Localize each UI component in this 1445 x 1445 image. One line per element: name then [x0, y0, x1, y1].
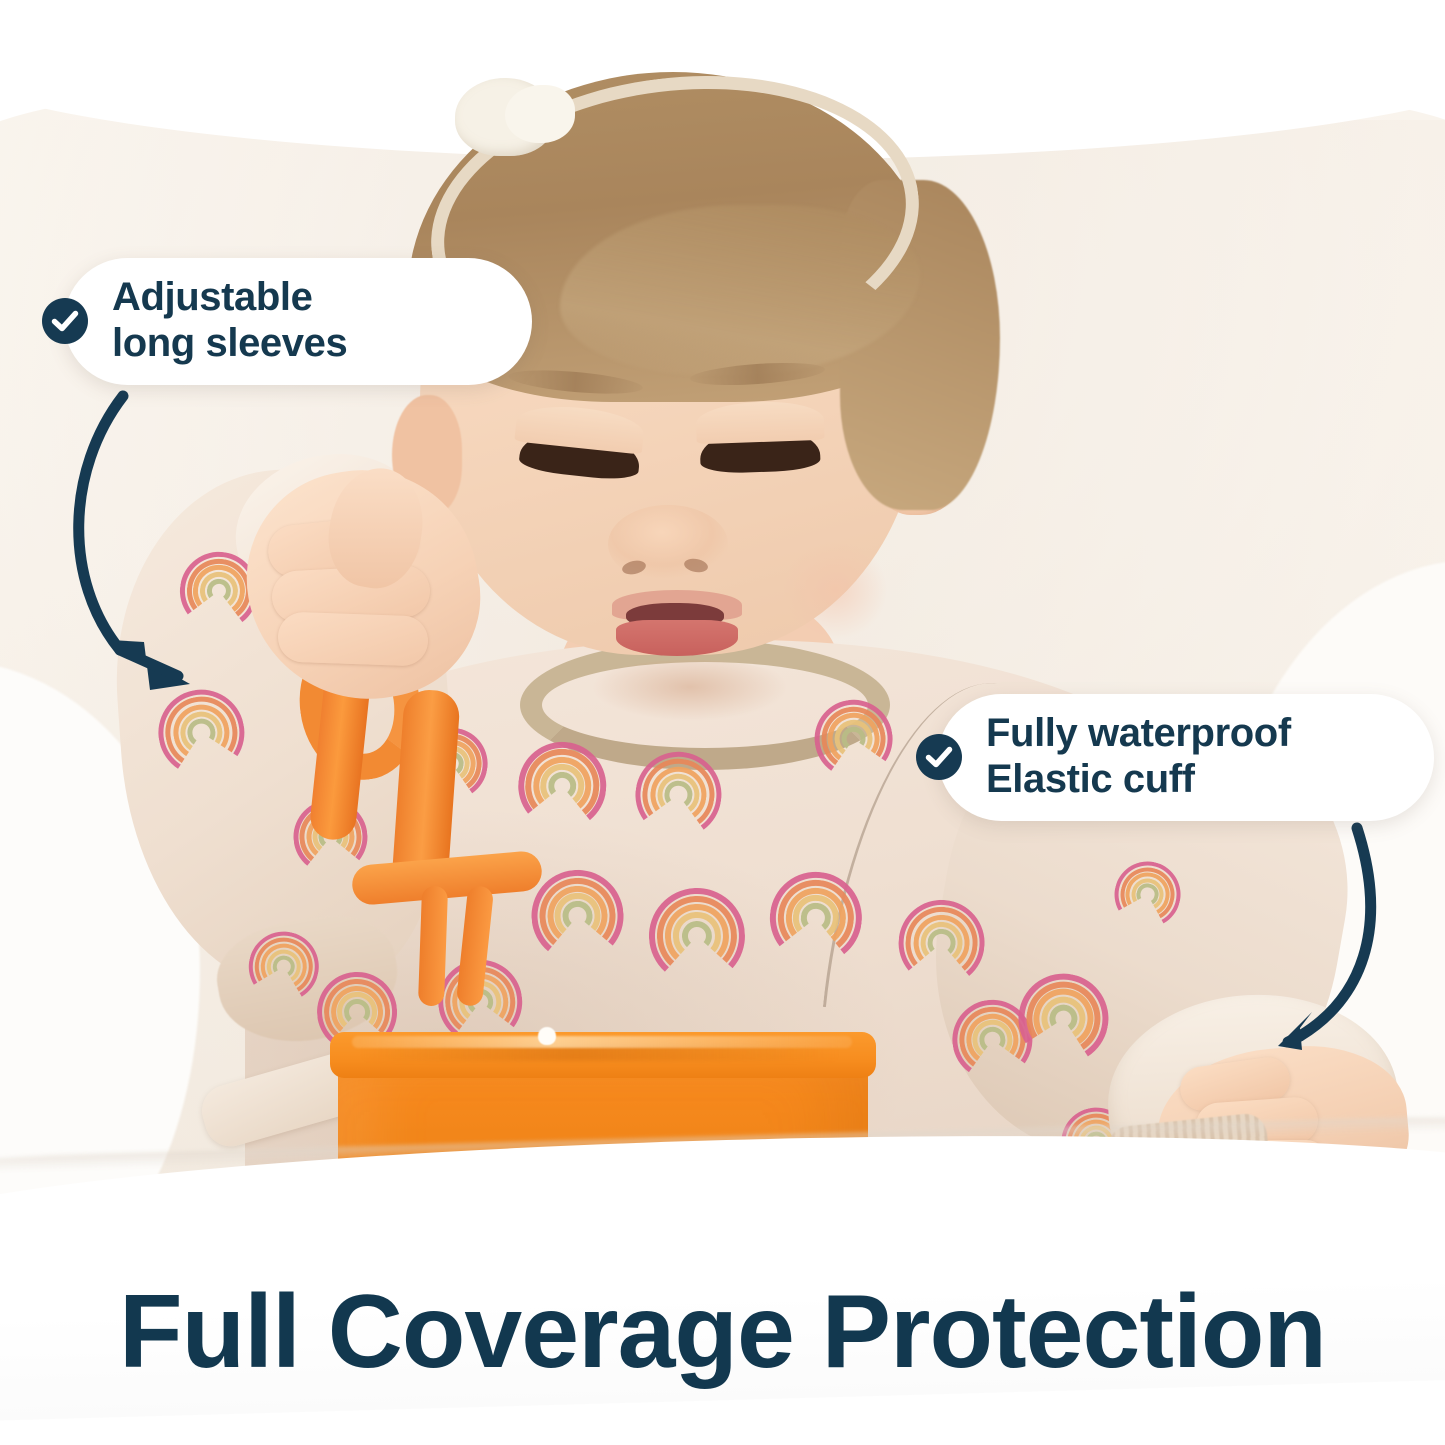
check-circle-icon	[916, 734, 962, 780]
baby-lower-lip	[616, 620, 738, 656]
baby-finger	[277, 611, 429, 666]
rainbow-motif	[898, 896, 988, 957]
rainbow-motif	[769, 867, 867, 935]
callout-badge-cuff-label: Fully waterproof Elastic cuff	[986, 710, 1291, 803]
check-circle-icon	[42, 298, 88, 344]
headband-bow-knot	[505, 85, 575, 143]
rainbow-motif	[528, 866, 625, 931]
page-title: Full Coverage Protection	[0, 1280, 1445, 1384]
baby-chin-shadow	[560, 660, 820, 750]
orange-bowl-highlight	[352, 1036, 852, 1048]
callout-badge-cuff[interactable]: Fully waterproof Elastic cuff	[938, 694, 1434, 821]
rainbow-motif	[647, 886, 746, 950]
orange-bowl-specular-highlight	[538, 1027, 556, 1045]
product-feature-image: Adjustable long sleeves Fully waterproof…	[0, 0, 1445, 1445]
baby-cheek	[760, 520, 910, 660]
fork-tine	[418, 886, 448, 1007]
rainbow-motif	[314, 969, 397, 1024]
callout-badge-sleeves-label: Adjustable long sleeves	[112, 274, 347, 367]
rainbow-motif	[517, 738, 610, 801]
callout-badge-sleeves[interactable]: Adjustable long sleeves	[64, 258, 532, 385]
